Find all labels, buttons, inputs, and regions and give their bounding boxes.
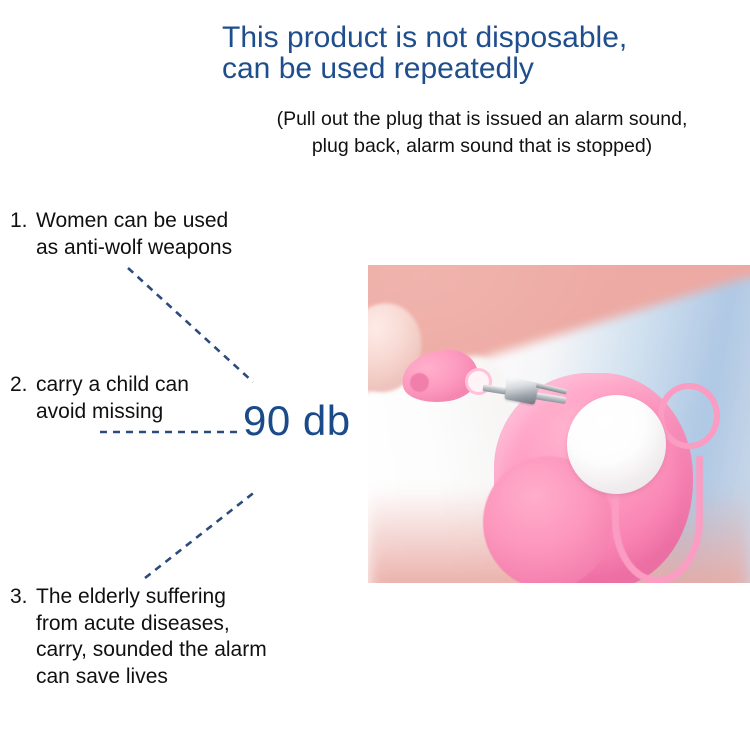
product-photo-scene <box>368 265 750 583</box>
page-subtitle: (Pull out the plug that is issued an ala… <box>214 106 750 160</box>
feature-item-2-text: carry a child can avoid missing <box>36 372 260 425</box>
connector-line-item3 <box>145 491 256 578</box>
feature-item-2: 2. carry a child can avoid missing <box>10 372 260 425</box>
feature-item-2-number: 2. <box>10 372 36 399</box>
decibel-callout-label: 90 db <box>243 398 351 444</box>
feature-item-3-number: 3. <box>10 584 36 611</box>
connector-line-item1 <box>128 268 253 382</box>
feature-item-1: 1. Women can be used as anti-wolf weapon… <box>10 208 310 261</box>
alarm-activation-button <box>567 395 666 494</box>
feature-item-1-text: Women can be used as anti-wolf weapons <box>36 208 310 261</box>
feature-item-3-text: The elderly suffering from acute disease… <box>36 584 340 690</box>
feature-item-1-number: 1. <box>10 208 36 235</box>
infographic-page: This product is not disposable, can be u… <box>0 0 750 750</box>
page-title: This product is not disposable, can be u… <box>222 22 750 84</box>
feature-item-3: 3. The elderly suffering from acute dise… <box>10 584 340 690</box>
product-photo <box>368 265 750 583</box>
alarm-device-loop <box>658 383 720 449</box>
